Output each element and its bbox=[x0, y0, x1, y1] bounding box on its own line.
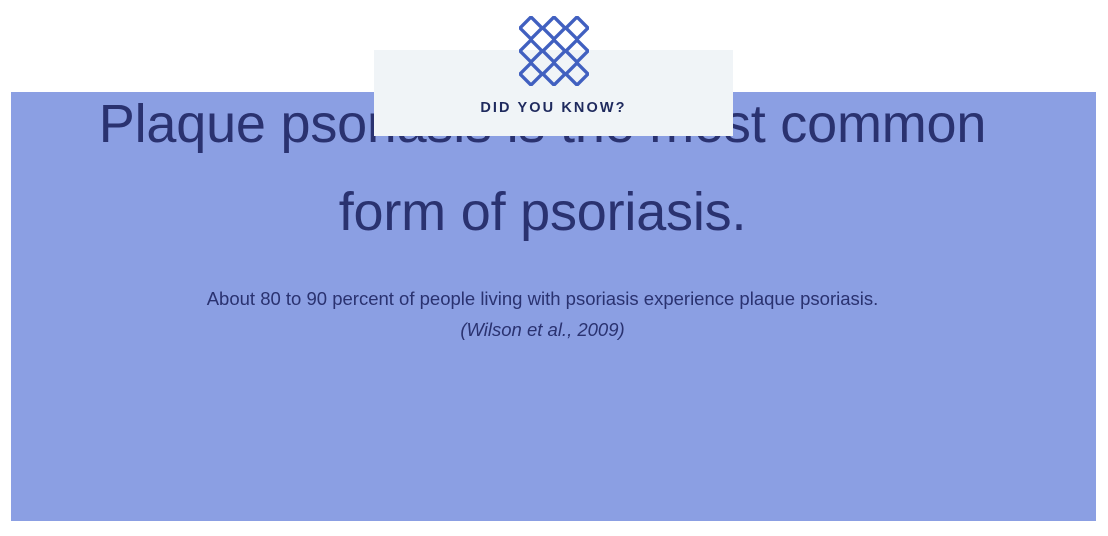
fact-body-text: About 80 to 90 percent of people living … bbox=[207, 288, 879, 309]
fact-body: About 80 to 90 percent of people living … bbox=[139, 283, 946, 345]
fact-citation: (Wilson et al., 2009) bbox=[139, 314, 946, 345]
slide-canvas: Plaque psoriasis is the most common form… bbox=[0, 0, 1108, 536]
did-you-know-label: DID YOU KNOW? bbox=[374, 100, 733, 116]
diamond-lattice-icon bbox=[519, 16, 589, 86]
